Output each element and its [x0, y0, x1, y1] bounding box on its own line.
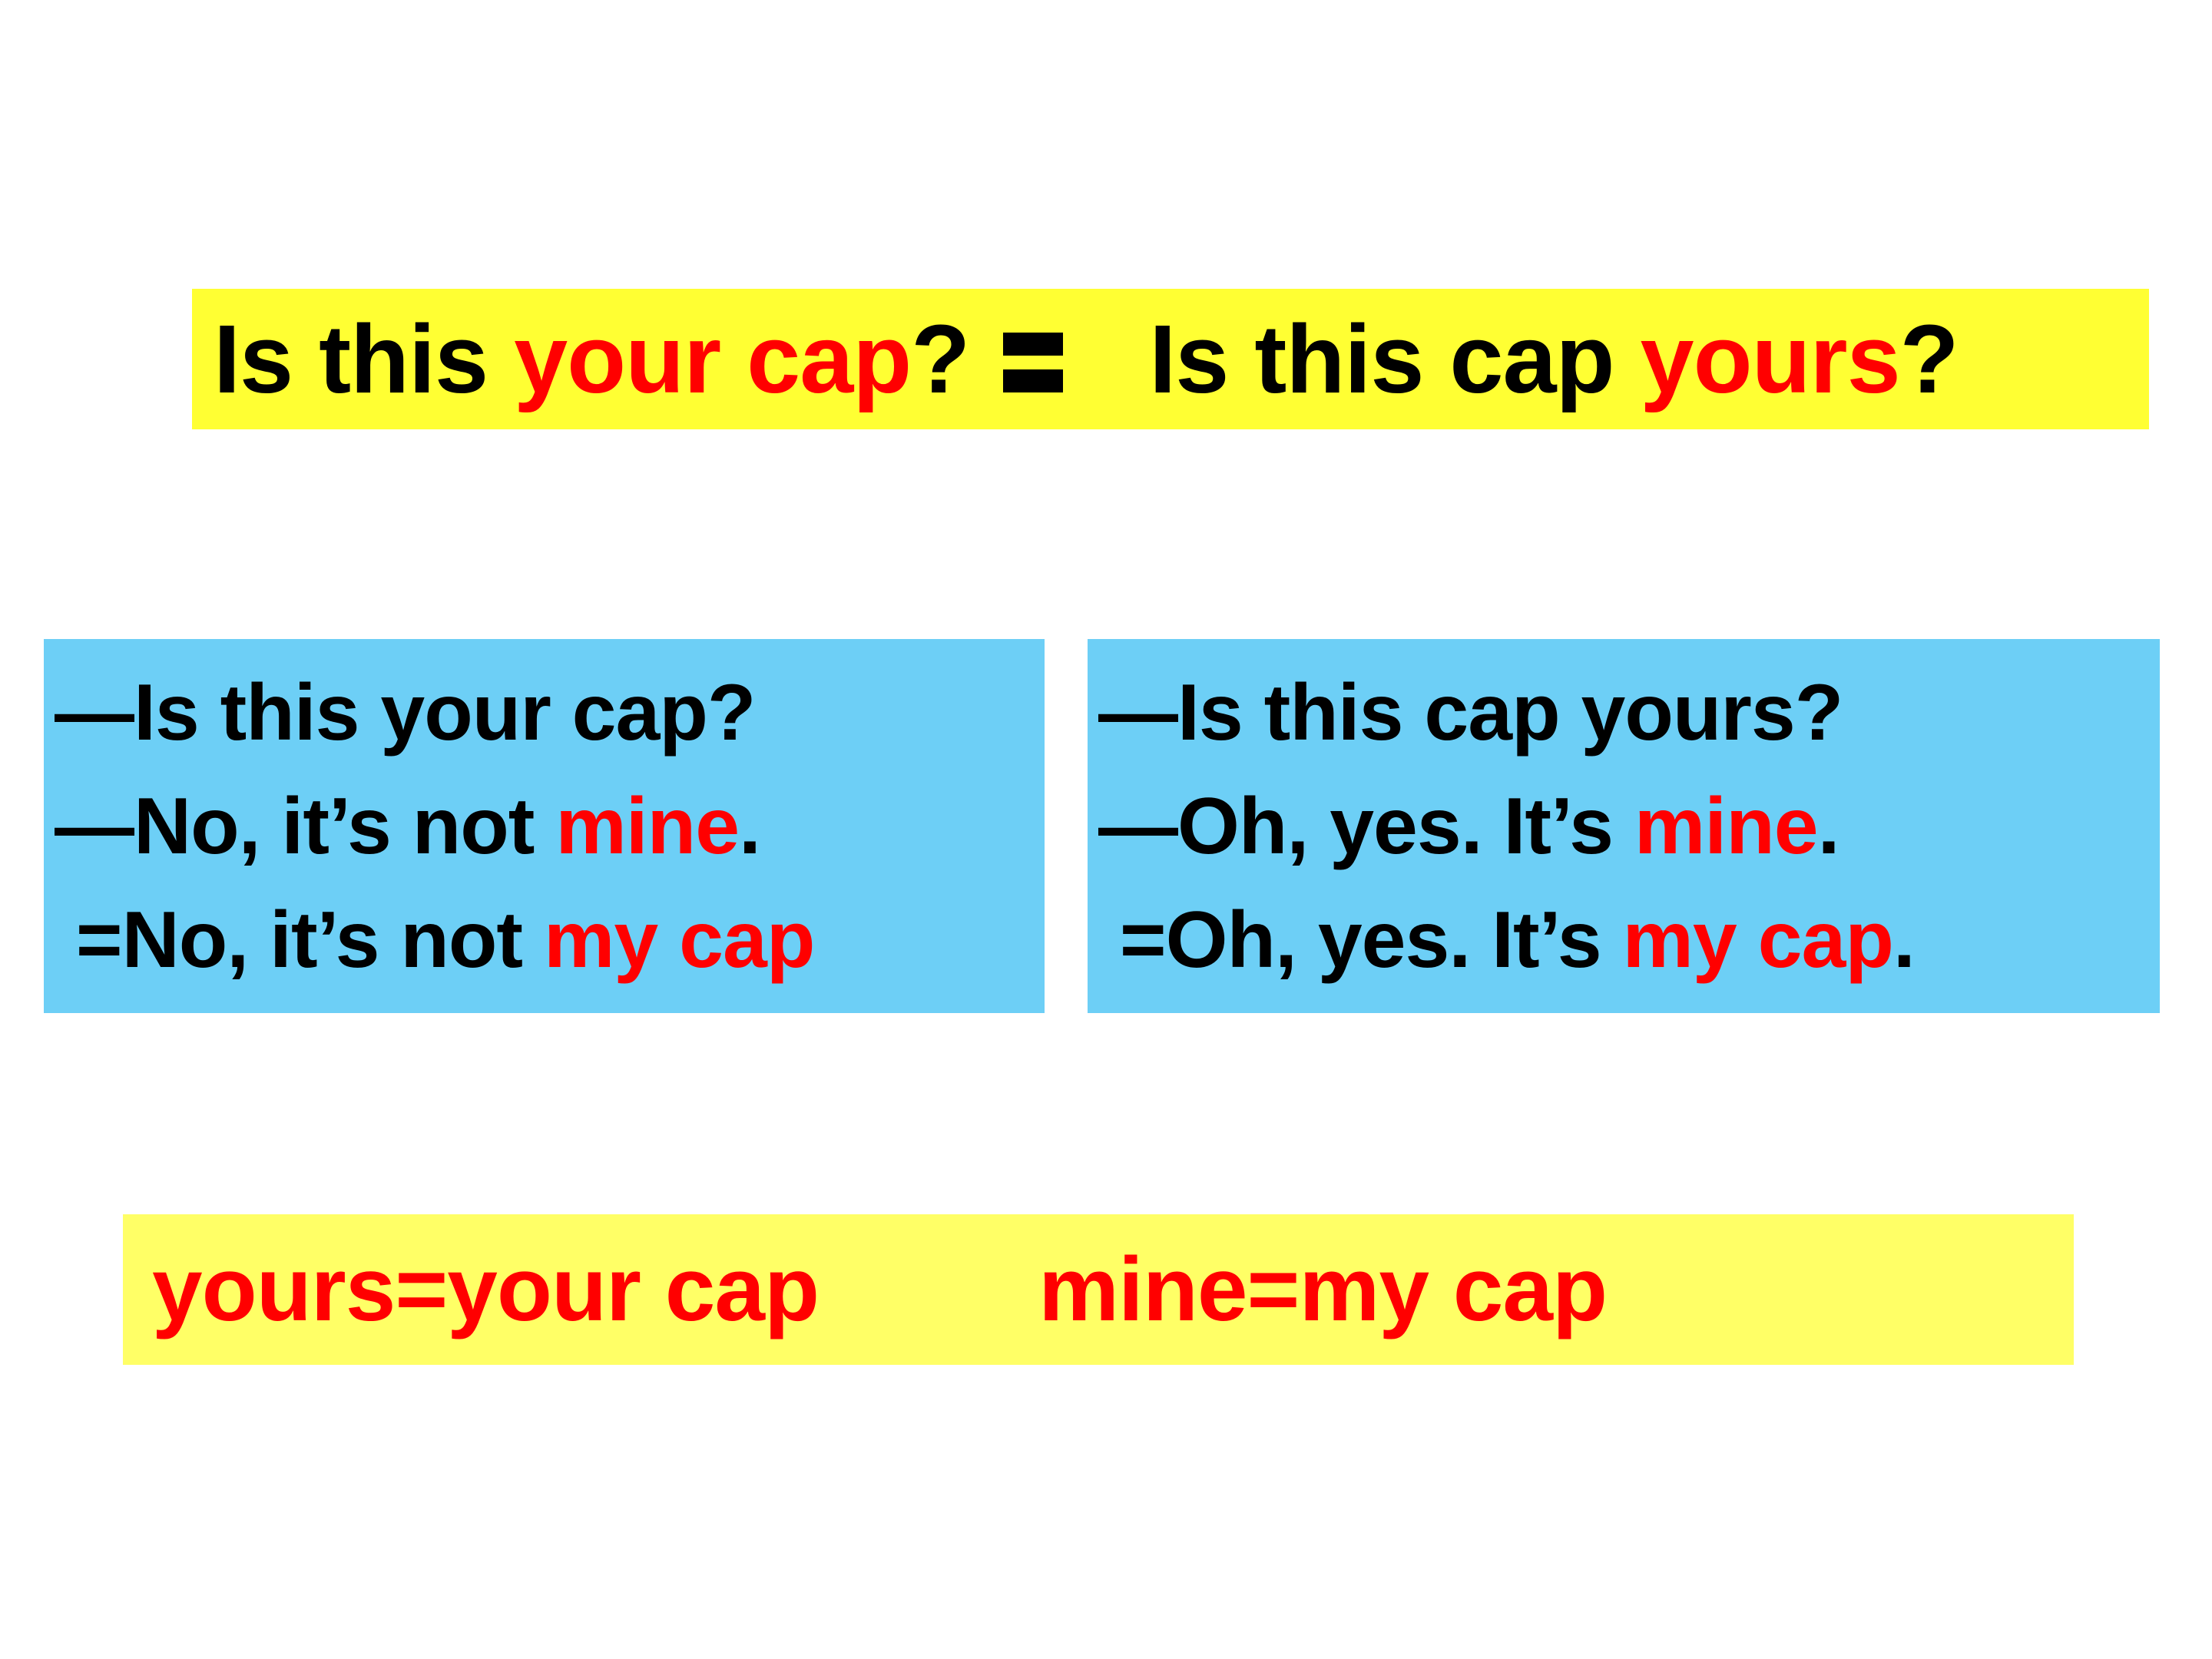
top-left-suffix: ?: [911, 305, 969, 413]
dialogue-right-line-3-highlight: my cap: [1622, 896, 1892, 985]
dialogue-left-line-3-plain: =No, it’s not: [55, 896, 544, 985]
top-equivalence-banner: Is this your cap? Is this cap yours?: [192, 289, 2149, 429]
top-right-suffix: ?: [1900, 305, 1959, 413]
dialogue-left-line-2-plain: —No, it’s not: [55, 782, 555, 871]
dialogue-left-line-2-highlight: mine: [555, 782, 739, 871]
top-left-highlight: your cap: [514, 305, 911, 413]
dialogue-left-line-2-tail: .: [739, 782, 760, 871]
equals-bar-top: [1003, 333, 1063, 356]
dialogue-box-left: —Is this your cap? —No, it’s not mine. =…: [44, 639, 1045, 1013]
top-right-prefix: Is this cap: [1149, 305, 1640, 413]
bottom-banner-gap: [819, 1239, 1038, 1340]
dialogue-left-line-3: =No, it’s not my cap: [44, 883, 1045, 997]
dialogue-right-line-1: —Is this cap yours?: [1088, 656, 2160, 770]
dialogue-box-right: —Is this cap yours? —Oh, yes. It’s mine.…: [1088, 639, 2160, 1013]
dialogue-right-line-2-plain: —Oh, yes. It’s: [1098, 782, 1634, 871]
dialogue-right-line-2: —Oh, yes. It’s mine.: [1088, 770, 2160, 883]
dialogue-right-line-3-plain: =Oh, yes. It’s: [1098, 896, 1622, 985]
dialogue-right-line-2-highlight: mine: [1634, 782, 1818, 871]
bottom-banner-line: yours=your cap mine=my cap: [152, 1244, 1607, 1335]
dialogue-left-line-3-highlight: my cap: [544, 896, 814, 985]
top-left-prefix: Is this: [214, 305, 514, 413]
top-right-highlight: yours: [1641, 305, 1900, 413]
bottom-summary-banner: yours=your cap mine=my cap: [123, 1214, 2074, 1365]
dialogue-right-line-2-tail: .: [1818, 782, 1839, 871]
dialogue-right-line-1-plain: —Is this cap yours?: [1098, 668, 1843, 757]
bottom-right-equation: mine=my cap: [1038, 1239, 1607, 1340]
slide-canvas: Is this your cap? Is this cap yours? —Is…: [0, 0, 2212, 1659]
dialogue-left-line-2: —No, it’s not mine.: [44, 770, 1045, 883]
equals-bar-bottom: [1003, 369, 1063, 392]
top-banner-spacer: [1071, 305, 1149, 413]
dialogue-right-line-3: =Oh, yes. It’s my cap.: [1088, 883, 2160, 997]
top-banner-space-before-equals: [969, 305, 995, 413]
dialogue-right-line-3-tail: .: [1893, 896, 1915, 985]
equals-icon: [1000, 323, 1066, 397]
bottom-left-equation: yours=your cap: [152, 1239, 819, 1340]
dialogue-left-line-1-plain: —Is this your cap?: [55, 668, 755, 757]
dialogue-left-line-1: —Is this your cap?: [44, 656, 1045, 770]
top-banner-line: Is this your cap? Is this cap yours?: [214, 311, 1959, 408]
